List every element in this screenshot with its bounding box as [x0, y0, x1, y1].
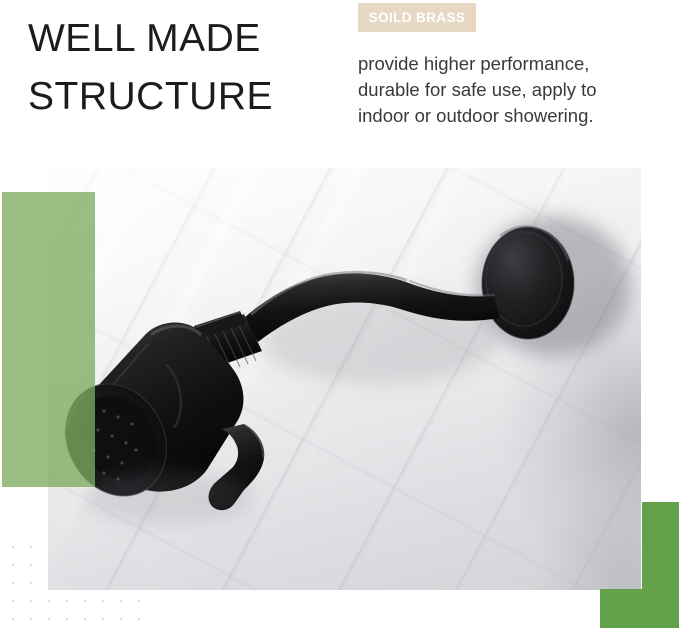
green-accent-bar-left [2, 192, 95, 487]
product-feature-banner: WELL MADESTRUCTURE SOILD BRASS provide h… [0, 0, 679, 628]
product-photo [48, 168, 641, 590]
shower-head-illustration [48, 168, 641, 590]
description-text: provide higher performance, durable for … [358, 51, 648, 129]
material-badge: SOILD BRASS [358, 3, 476, 32]
green-accent-block-horizontal [600, 589, 679, 628]
wall-flange [482, 226, 574, 339]
head-contact-shadow [83, 472, 253, 524]
headline-line-2: STRUCTURE [28, 68, 348, 126]
page-title: WELL MADESTRUCTURE [28, 10, 348, 126]
headline-line-1: WELL MADE [28, 17, 261, 60]
